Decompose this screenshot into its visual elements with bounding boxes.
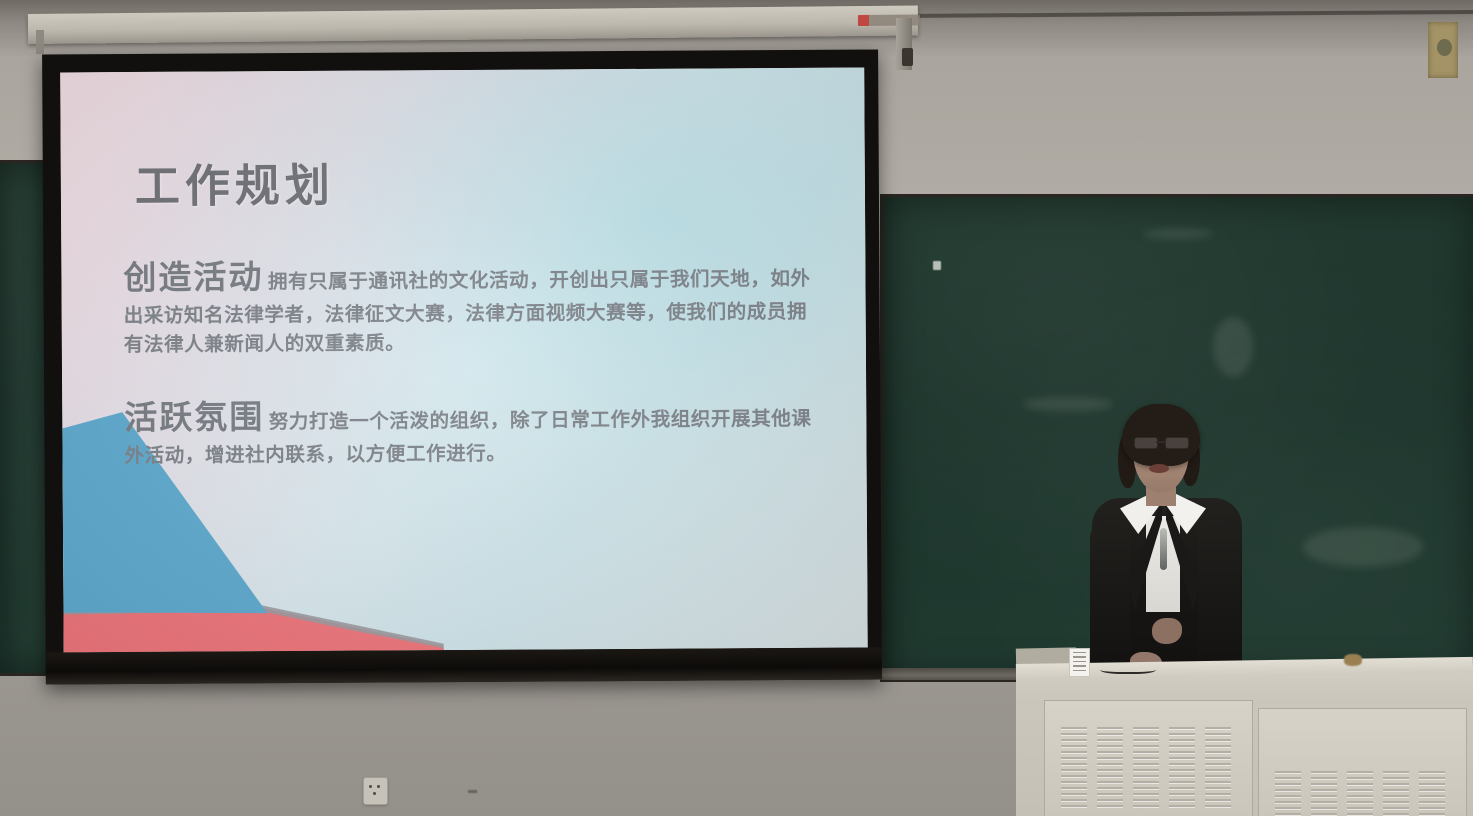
glasses-bridge [1156,441,1165,443]
classroom-scene: 工作规划 创造活动 拥有只属于通讯社的文化活动，开创出只属于我们天地，如外出采访… [0,0,1473,816]
vent-column [1205,727,1231,811]
red-triangle-fill [64,612,444,652]
vent-column [1347,771,1373,816]
vent-column [1169,727,1195,811]
presenter-mouth [1149,464,1169,473]
presenter-hair [1122,404,1200,466]
vent-column [1383,771,1409,816]
wall-scuff-mark [468,790,477,793]
screen-bottom-frame [46,647,882,684]
glasses-lens-right [1165,437,1189,449]
glasses-icon [1132,437,1190,447]
power-outlet[interactable] [363,777,388,805]
vent-column [1311,771,1337,816]
rail-bracket-left [36,30,44,54]
vent-column [1275,771,1301,816]
small-object-on-podium [1344,654,1362,666]
chalk-smudge [1023,397,1113,411]
vent-column [1419,771,1445,816]
white-card-on-podium [1069,648,1090,677]
vent-column [1097,727,1123,811]
rail-endcap [902,48,913,66]
screen-surface: 工作规划 创造活动 拥有只属于通讯社的文化活动，开创出只属于我们天地，如外出采访… [60,68,868,653]
gray-diagonal-stripe-icon [63,604,443,652]
vent-column [1133,727,1159,811]
cabinet-door-left[interactable] [1044,700,1253,816]
slide-block-2: 活跃氛围 努力打造一个活泼的组织，除了日常工作外我组织开展其他课外活动，增进社内… [124,390,814,472]
chalk-smudge [1143,229,1213,239]
presentation-slide: 工作规划 创造活动 拥有只属于通讯社的文化活动，开创出只属于我们天地，如外出采访… [60,68,868,653]
slide-block-1: 创造活动 拥有只属于通讯社的文化活动，开创出只属于我们天地，如外出采访知名法律学… [123,250,814,361]
projector-screen: 工作规划 创造活动 拥有只属于通讯社的文化活动，开创出只属于我们天地，如外出采访… [42,49,882,684]
cabinet-door-right[interactable] [1258,708,1467,816]
chalk-mark [933,261,941,270]
microphone-icon [1160,528,1167,570]
wall-plaque [1428,22,1458,78]
slide-title: 工作规划 [135,149,335,215]
cable-on-podium [1100,664,1156,674]
block-1-heading: 创造活动 [123,258,263,296]
glasses-lens-left [1134,437,1158,449]
red-triangle-icon [63,606,443,652]
block-2-heading: 活跃氛围 [124,398,264,436]
chalk-smudge [1303,527,1423,567]
vent-column [1061,727,1087,811]
presenter-hand-right [1152,618,1182,644]
chalk-smudge [1213,317,1253,377]
presenter-arm-right [1198,520,1240,670]
presenter-arm-left [1090,520,1130,670]
